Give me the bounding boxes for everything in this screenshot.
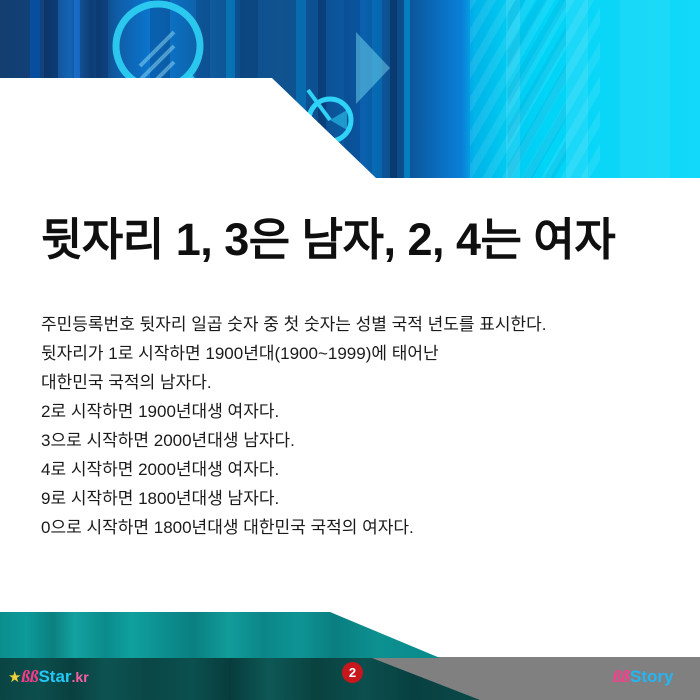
body-line: 주민등록번호 뒷자리 일곱 숫자 중 첫 숫자는 성별 국적 년도를 표시한다. <box>41 310 547 339</box>
bbstar-logo-bb: ßß <box>21 667 38 686</box>
body-line: 0으로 시작하면 1800년대생 대한민국 국적의 여자다. <box>41 513 547 542</box>
page-title: 뒷자리 1, 3은 남자, 2, 4는 여자 <box>41 203 615 268</box>
footer-banner <box>0 600 700 700</box>
bbstory-logo[interactable]: ßßStory <box>613 668 673 685</box>
page-number-badge: 2 <box>342 662 363 683</box>
header-stripe <box>620 0 670 178</box>
header-stripe <box>404 0 410 178</box>
slide-canvas: 뒷자리 1, 3은 남자, 2, 4는 여자 주민등록번호 뒷자리 일곱 숫자 … <box>0 0 700 700</box>
body-line: 4로 시작하면 2000년대생 여자다. <box>41 455 547 484</box>
bbstory-logo-story: Story <box>630 667 673 686</box>
body-line: 3으로 시작하면 2000년대생 남자다. <box>41 426 547 455</box>
bbstar-logo-star: Star <box>38 667 71 686</box>
star-icon: ★ <box>8 669 21 686</box>
bbstar-logo-kr: .kr <box>72 669 89 685</box>
header-chevron-pattern <box>508 0 566 178</box>
body-line: 뒷자리가 1로 시작하면 1900년대(1900~1999)에 태어난 <box>41 339 547 368</box>
body-line: 2로 시작하면 1900년대생 여자다. <box>41 397 547 426</box>
arrow-icon <box>352 30 394 108</box>
body-text-block: 주민등록번호 뒷자리 일곱 숫자 중 첫 숫자는 성별 국적 년도를 표시한다.… <box>41 310 547 542</box>
bbstory-logo-bb: ßß <box>613 667 630 686</box>
body-line: 대한민국 국적의 남자다. <box>41 368 547 397</box>
body-line: 9로 시작하면 1800년대생 남자다. <box>41 484 547 513</box>
bbstar-logo[interactable]: ★ßßStar.kr <box>8 668 89 685</box>
footer-teal-band-upper <box>0 612 440 658</box>
header-banner <box>0 0 700 178</box>
